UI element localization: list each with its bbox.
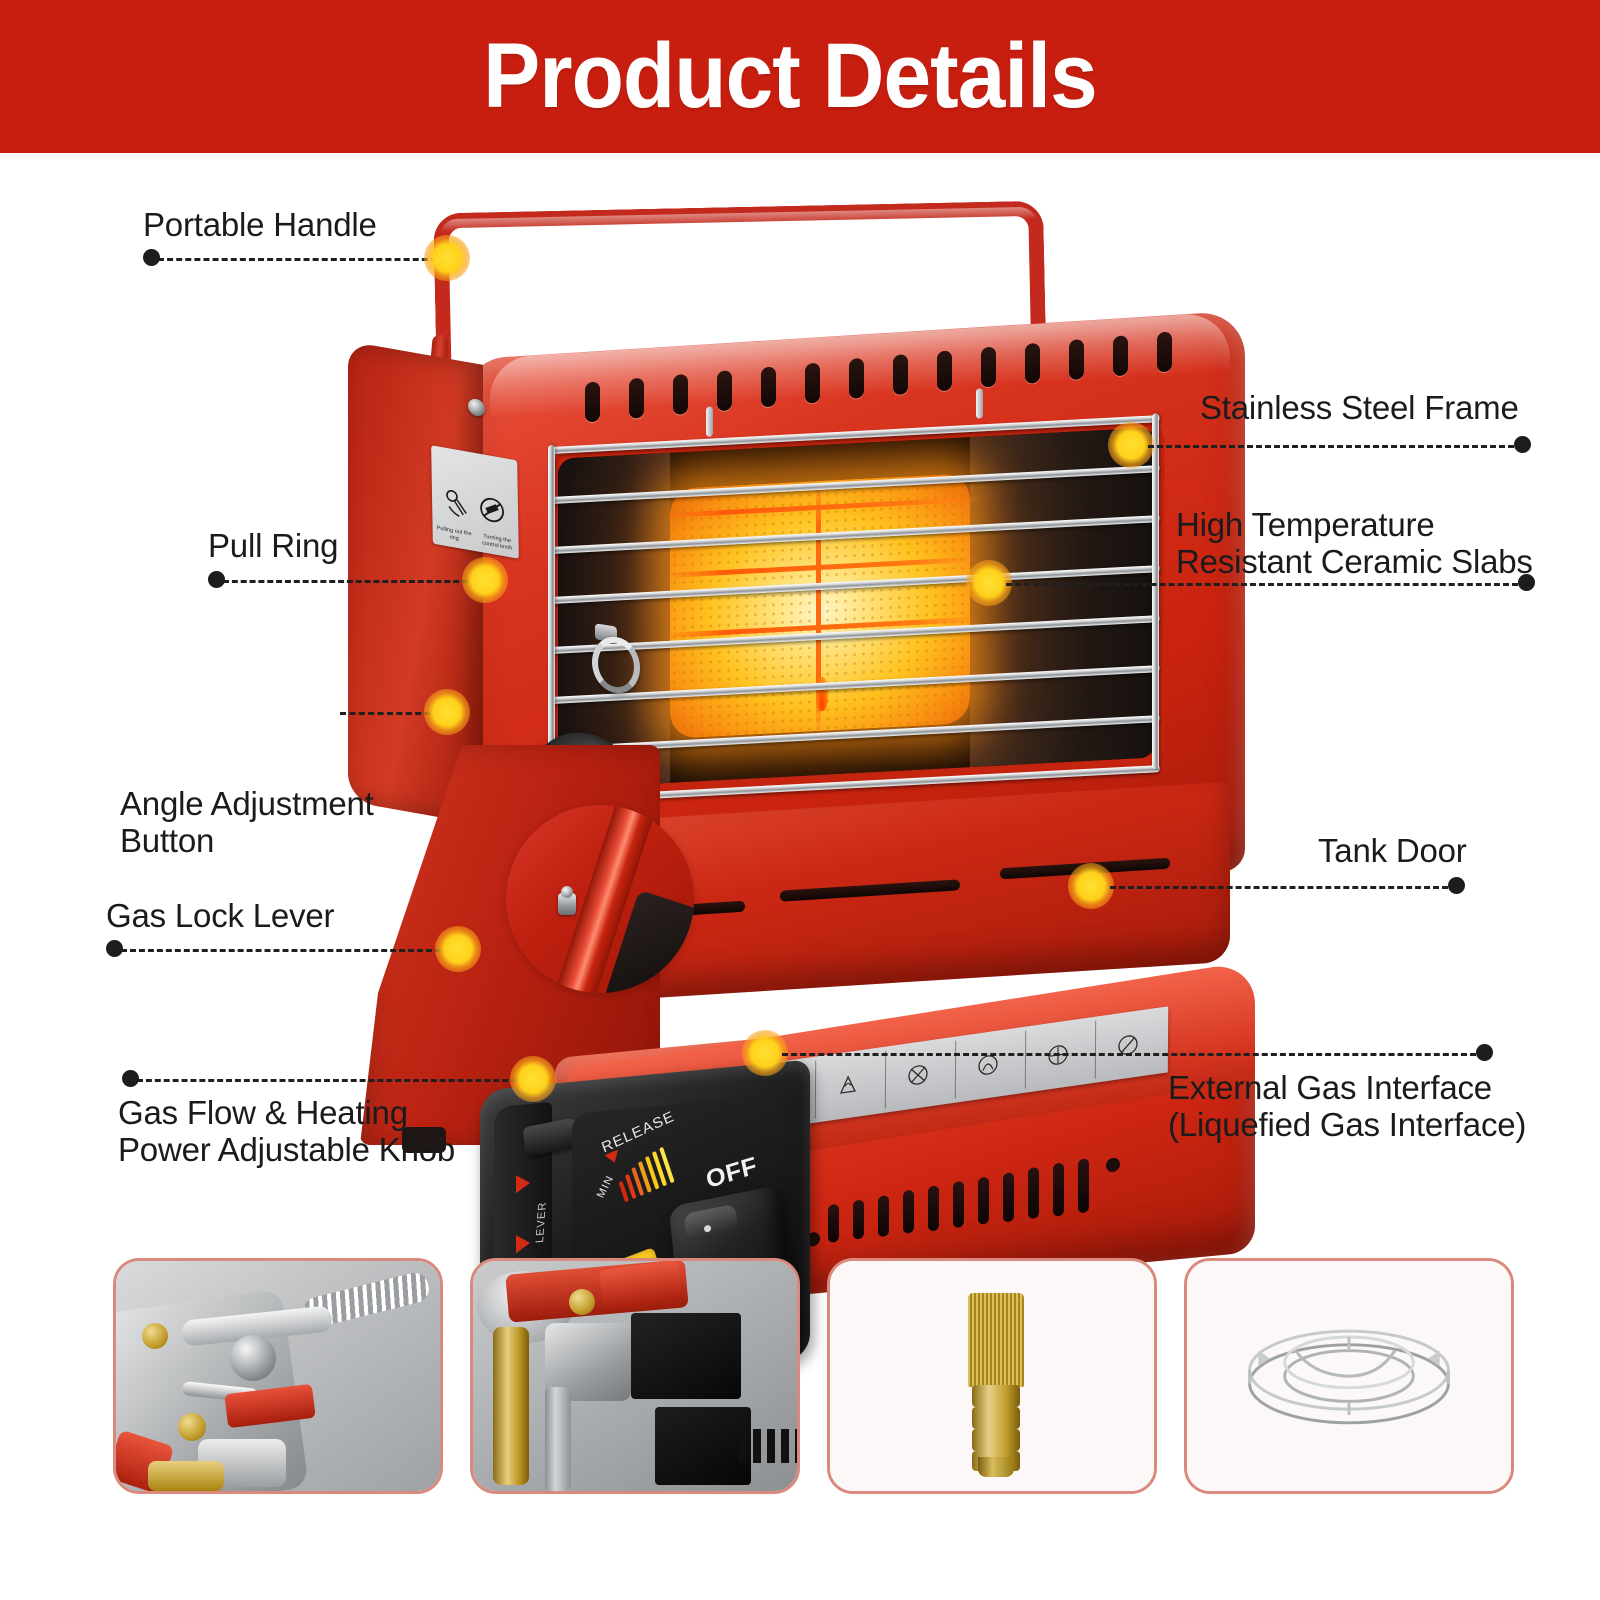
vent-slot xyxy=(585,382,600,423)
vent-slot xyxy=(1069,339,1084,380)
callout-label-pull-ring: Pull Ring xyxy=(208,528,338,565)
warning-pictogram xyxy=(833,1070,863,1100)
callout-dot xyxy=(1514,436,1531,453)
callout-marker-angle-adjustment xyxy=(424,689,470,735)
vent-slot xyxy=(981,347,996,388)
callout-label-external-gas-interface: External Gas Interface (Liquefied Gas In… xyxy=(1168,1070,1526,1144)
grille-bar xyxy=(552,665,1160,704)
callout-line xyxy=(121,949,441,952)
lever-arrow-icon xyxy=(516,1174,530,1193)
grille-bar xyxy=(552,615,1160,654)
off-label: OFF xyxy=(704,1152,760,1195)
callout-label-ceramic-slabs: High Temperature Resistant Ceramic Slabs xyxy=(1176,507,1533,581)
griddle-icon xyxy=(1187,1261,1511,1491)
vent-slot xyxy=(937,351,952,392)
product-details-page: Product Details xyxy=(0,0,1600,1600)
callout-line xyxy=(223,580,468,583)
callout-label-angle-adjustment-button: Angle Adjustment Button xyxy=(120,786,374,860)
callout-line xyxy=(137,1079,517,1082)
tank-vent-slot xyxy=(1028,1167,1039,1219)
vent-slot xyxy=(629,378,644,419)
warning-pictogram xyxy=(903,1060,933,1090)
callout-marker-gas-flow-knob xyxy=(510,1056,556,1102)
vent-slot xyxy=(717,370,732,411)
callout-line xyxy=(158,258,446,261)
tank-vent-slot xyxy=(878,1195,889,1237)
instruction-sticker: Pulling out the ring Turning the control… xyxy=(431,445,519,559)
tank-vent-slot xyxy=(1003,1172,1014,1222)
safety-valve-photo xyxy=(116,1261,440,1491)
pull-ring-pictogram xyxy=(443,486,474,529)
grille-side-rail xyxy=(1152,413,1159,769)
tank-vent-slot xyxy=(1053,1163,1064,1216)
grille-hook xyxy=(976,388,983,418)
warning-cell xyxy=(955,1031,1020,1098)
turn-knob-pictogram xyxy=(477,492,508,535)
vent-slot xyxy=(849,358,864,399)
thumbnail-card-safety-valve[interactable] xyxy=(113,1258,443,1494)
grille-hook xyxy=(706,406,713,436)
liquefied-gas-connector-photo xyxy=(830,1261,1154,1491)
callout-marker-gas-lock-lever xyxy=(435,926,481,972)
tank-vent-dot xyxy=(1106,1157,1120,1172)
callout-label-gas-flow-knob: Gas Flow & Heating Power Adjustable Knob xyxy=(118,1095,455,1169)
lever-arrow-icon xyxy=(516,1234,530,1253)
vent-slot xyxy=(761,366,776,407)
callout-marker-pull-ring xyxy=(462,557,508,603)
callout-label-portable-handle: Portable Handle xyxy=(143,207,377,244)
callout-dot xyxy=(1476,1044,1493,1061)
thumbnail-card-griddle[interactable] xyxy=(1184,1258,1514,1494)
tank-vent-slot xyxy=(828,1204,839,1243)
vent-slot xyxy=(673,374,688,415)
product-illustration: Pulling out the ring Turning the control… xyxy=(340,185,1290,1235)
page-header-banner: Product Details xyxy=(0,0,1600,153)
warning-cell xyxy=(815,1051,880,1118)
thumbnail-card-liquefied-gas-connector[interactable] xyxy=(827,1258,1157,1494)
thumbnail-card-butane-tank-interface[interactable] xyxy=(470,1258,800,1494)
power-scale xyxy=(611,1138,693,1207)
vent-slot xyxy=(1025,343,1040,384)
callout-line xyxy=(1110,886,1448,889)
min-label: MIN xyxy=(595,1174,616,1200)
tank-vent-slot xyxy=(903,1190,914,1234)
angle-adjustment-inset xyxy=(506,805,694,993)
callout-dot xyxy=(1518,574,1535,591)
grille-bar xyxy=(552,515,1160,554)
callout-dot xyxy=(1448,877,1465,894)
accessory-thumbnails: Safety Valve Butane Gas Tank Interface L… xyxy=(0,1258,1600,1498)
tank-vent-slot xyxy=(1078,1158,1089,1213)
griddle-photo xyxy=(1187,1261,1511,1491)
grille-bar xyxy=(552,465,1160,504)
callout-label-tank-door: Tank Door xyxy=(1318,833,1467,870)
page-title: Product Details xyxy=(483,24,1097,129)
callout-marker-tank-door xyxy=(1068,863,1114,909)
callout-label-stainless-steel-frame: Stainless Steel Frame xyxy=(1200,390,1519,427)
tank-vent-slot xyxy=(853,1199,864,1240)
vent-slot xyxy=(893,354,908,395)
tank-vent-slot xyxy=(953,1181,964,1228)
callout-marker-portable-handle xyxy=(424,235,470,281)
vent-slot xyxy=(1157,331,1172,372)
butane-tank-interface-photo xyxy=(473,1261,797,1491)
inset-button-screw xyxy=(558,893,576,915)
callout-line xyxy=(1148,445,1514,448)
tank-vent-slot xyxy=(928,1186,939,1231)
callout-line xyxy=(782,1053,1476,1056)
callout-label-gas-lock-lever: Gas Lock Lever xyxy=(106,898,334,935)
lever-label: LEVER xyxy=(534,1201,549,1243)
warning-cell xyxy=(1095,1011,1160,1078)
warning-cell xyxy=(885,1041,950,1108)
sticker-caption-right: Turning the control knob xyxy=(478,533,516,552)
vent-slot xyxy=(805,362,820,403)
vent-slot xyxy=(1113,335,1128,376)
callout-line xyxy=(1006,583,1518,586)
tank-vent-slot xyxy=(978,1176,989,1225)
